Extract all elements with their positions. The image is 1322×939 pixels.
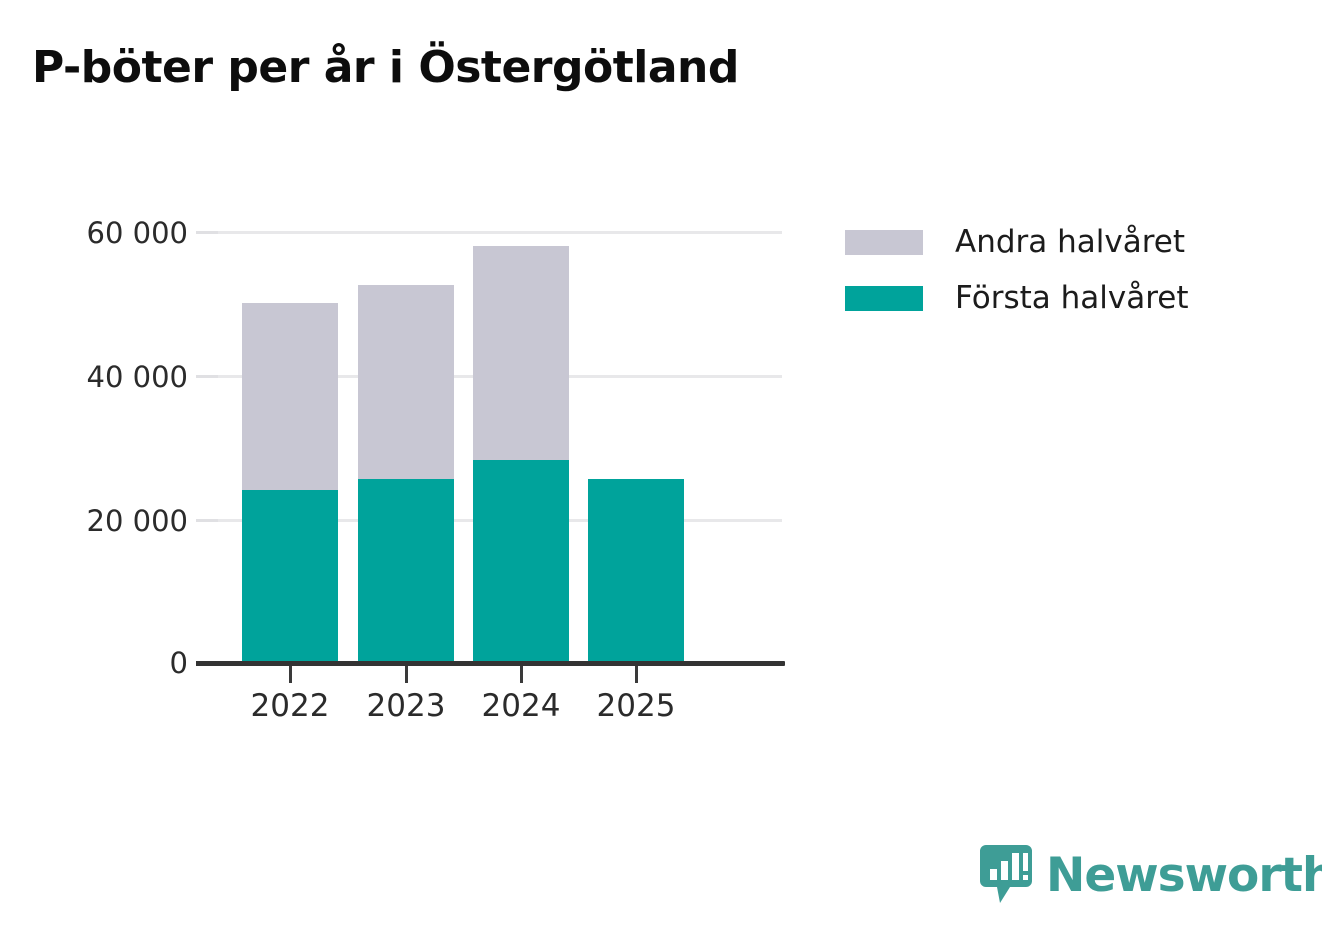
x-axis-label-2022: 2022 (232, 688, 348, 724)
bar-stack-2025[interactable] (588, 479, 684, 663)
x-tick-mark-2022 (289, 666, 292, 683)
x-axis-label-2025: 2025 (578, 688, 694, 724)
chart-plot-area: 60 000 40 000 20 000 0 2022 2023 2024 20… (0, 0, 1322, 760)
x-tick-mark-2025 (635, 666, 638, 683)
y-axis-label-20000: 20 000 (87, 504, 188, 538)
y-axis-label-0: 0 (170, 646, 188, 680)
newsworthy-bar-chart-bubble-icon (980, 845, 1032, 905)
y-tick-stub-20000 (196, 519, 218, 522)
legend-swatch-first-half (845, 286, 923, 311)
bar-stack-2022[interactable] (242, 303, 338, 663)
bar-segment-second-half-2022[interactable] (242, 303, 338, 490)
y-tick-stub-60000 (196, 231, 218, 234)
x-axis-line (215, 661, 785, 666)
bar-segment-first-half-2024[interactable] (473, 460, 569, 663)
legend-swatch-second-half (845, 230, 923, 255)
bar-segment-second-half-2023[interactable] (358, 285, 454, 479)
bar-stack-2023[interactable] (358, 285, 454, 663)
bar-stack-2024[interactable] (473, 246, 569, 663)
bar-segment-first-half-2025[interactable] (588, 479, 684, 663)
gridline-60000 (215, 231, 782, 234)
x-tick-mark-2024 (520, 666, 523, 683)
legend-label-first-half: Första halvåret (955, 280, 1188, 316)
chart-legend: Andra halvåret Första halvåret (845, 214, 1188, 326)
bar-segment-first-half-2023[interactable] (358, 479, 454, 663)
legend-item-first-half[interactable]: Första halvåret (845, 270, 1188, 326)
bar-segment-second-half-2024[interactable] (473, 246, 569, 460)
newsworthy-logo: Newsworthy (980, 845, 1322, 905)
newsworthy-wordmark: Newsworthy (1046, 852, 1322, 899)
bar-segment-first-half-2022[interactable] (242, 490, 338, 663)
y-axis-label-40000: 40 000 (87, 360, 188, 394)
legend-label-second-half: Andra halvåret (955, 224, 1185, 260)
y-tick-stub-40000 (196, 375, 218, 378)
y-axis-label-60000: 60 000 (87, 216, 188, 250)
x-tick-mark-2023 (405, 666, 408, 683)
x-axis-label-2024: 2024 (463, 688, 579, 724)
legend-item-second-half[interactable]: Andra halvåret (845, 214, 1188, 270)
x-axis-label-2023: 2023 (348, 688, 464, 724)
